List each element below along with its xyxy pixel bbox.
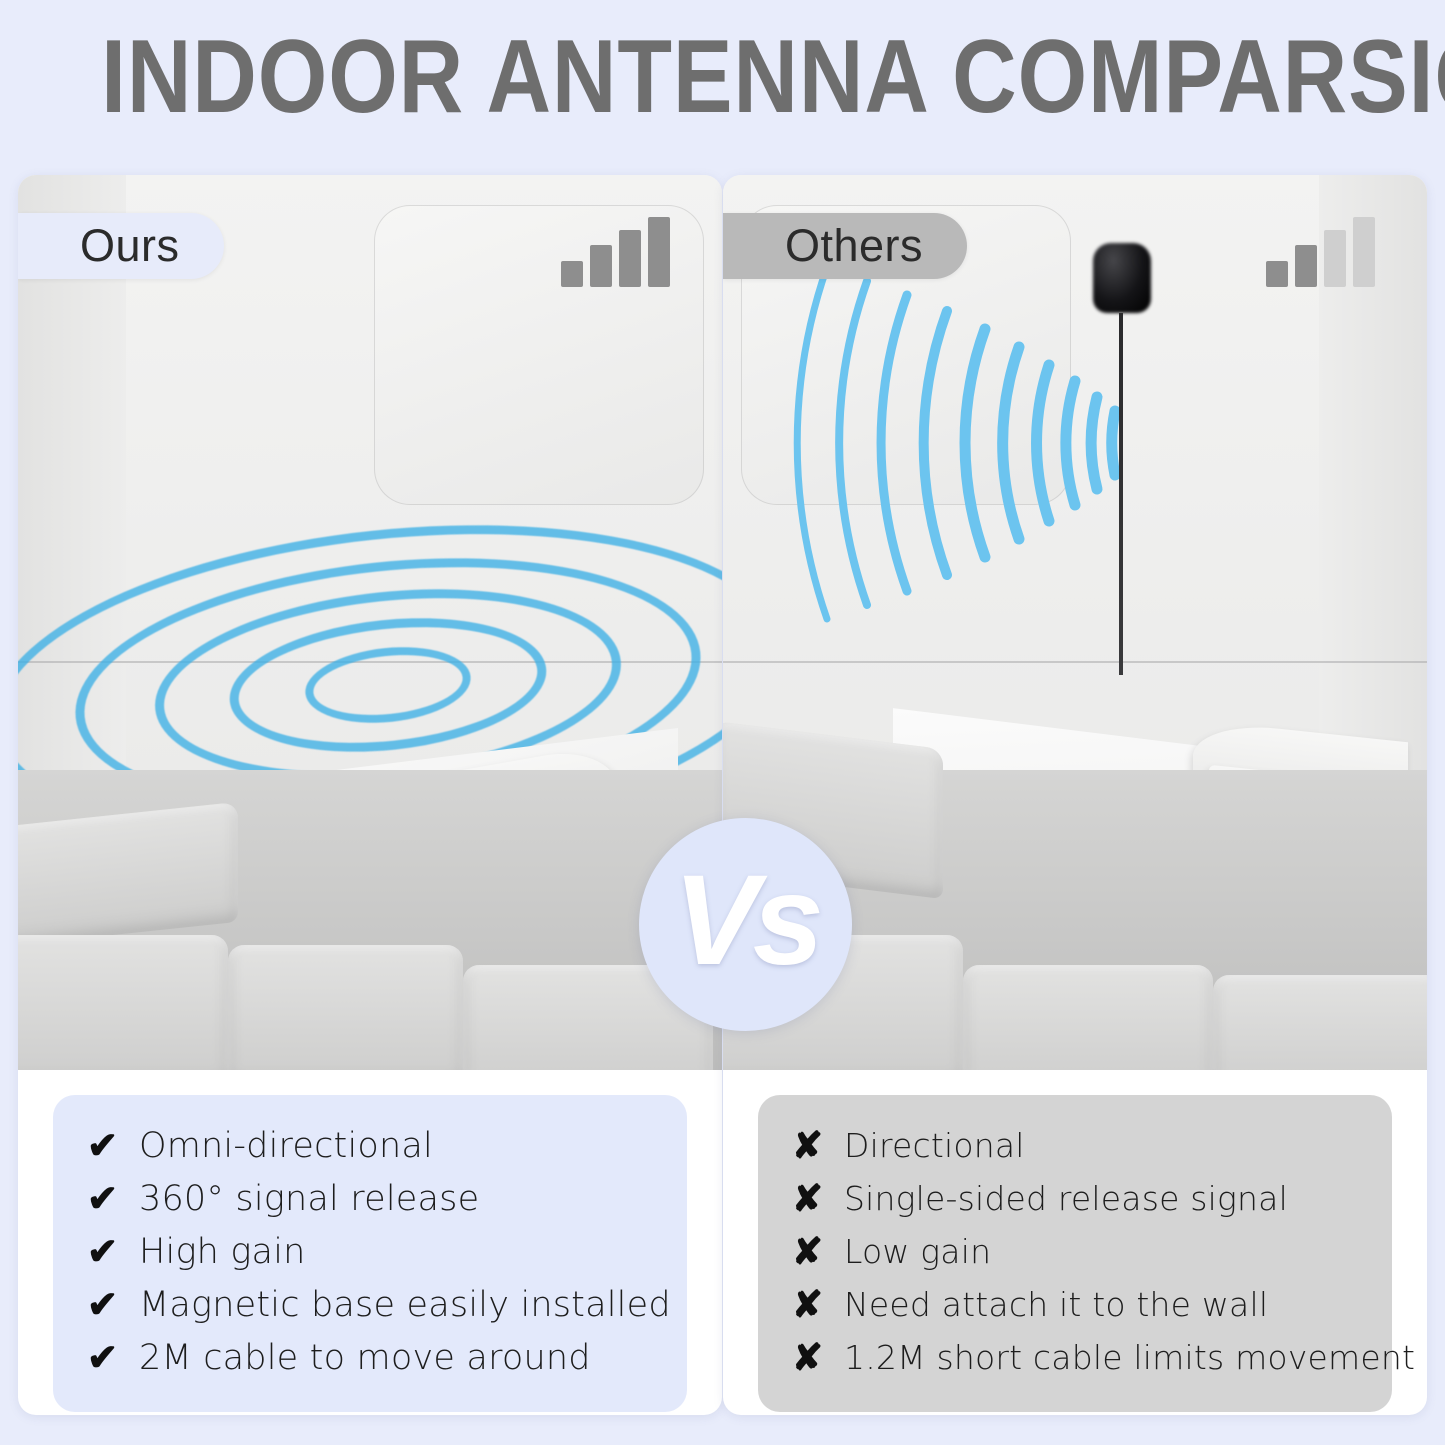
check-icon: ✔ <box>87 1286 139 1323</box>
signal-bar-3 <box>1324 230 1346 287</box>
feature-label: High gain <box>139 1232 306 1272</box>
wall-seam <box>723 661 1427 663</box>
sofa-cushion <box>228 945 463 1070</box>
check-icon: ✔ <box>87 1233 139 1270</box>
vs-badge: Vs <box>639 818 852 1031</box>
wall-antenna-head <box>1093 243 1151 313</box>
cross-icon: ✘ <box>792 1127 844 1164</box>
comparison-card-ours: HiBOOST Ours ✔ Omni-directional <box>18 175 722 1415</box>
feature-label: Magnetic base easily installed <box>139 1285 671 1325</box>
signal-bar-2 <box>1295 245 1317 287</box>
feature-item: ✘ 1.2M short cable limits movement <box>792 1333 1372 1382</box>
check-icon: ✔ <box>87 1127 139 1164</box>
feature-item: ✔ 2M cable to move around <box>87 1333 667 1382</box>
cross-icon: ✘ <box>792 1286 844 1323</box>
sofa-cushion <box>963 965 1213 1070</box>
page-title: INDOOR ANTENNA COMPARSION <box>101 22 1344 132</box>
sofa-cushion <box>18 935 228 1070</box>
wall-antenna-cable <box>1119 313 1123 675</box>
badge-ours: Ours <box>18 213 224 279</box>
signal-bar-4 <box>1353 217 1375 287</box>
feature-label: Low gain <box>844 1232 991 1271</box>
sofa-cushion <box>1213 975 1427 1070</box>
feature-label: Single-sided release signal <box>844 1179 1288 1218</box>
vs-label: Vs <box>673 857 818 985</box>
badge-others-label: Others <box>785 220 923 271</box>
feature-label: Need attach it to the wall <box>844 1285 1268 1324</box>
check-icon: ✔ <box>87 1180 139 1217</box>
cross-icon: ✘ <box>792 1180 844 1217</box>
feature-item: ✘ Need attach it to the wall <box>792 1280 1372 1329</box>
feature-item: ✔ Omni-directional <box>87 1121 667 1170</box>
ours-photo: HiBOOST Ours <box>18 175 722 1070</box>
badge-ours-label: Ours <box>80 220 180 271</box>
feature-list-others: ✘ Directional ✘ Single-sided release sig… <box>758 1095 1392 1412</box>
feature-item: ✘ Directional <box>792 1121 1372 1170</box>
signal-bar-1 <box>1266 261 1288 287</box>
feature-item: ✘ Low gain <box>792 1227 1372 1276</box>
feature-item: ✘ Single-sided release signal <box>792 1174 1372 1223</box>
badge-others: Others <box>723 213 967 279</box>
feature-item: ✔ High gain <box>87 1227 667 1276</box>
comparison-card-others: Others ✘ Directional ✘ Single-sided rele… <box>723 175 1427 1415</box>
signal-bar-4 <box>648 217 670 287</box>
feature-label: 360° signal release <box>139 1179 479 1219</box>
feature-item: ✔ 360° signal release <box>87 1174 667 1223</box>
cross-icon: ✘ <box>792 1233 844 1270</box>
check-icon: ✔ <box>87 1339 139 1376</box>
signal-bars-icon-others <box>1266 217 1375 287</box>
signal-bar-1 <box>561 261 583 287</box>
feature-label: 2M cable to move around <box>139 1338 591 1378</box>
feature-label: Omni-directional <box>139 1126 433 1166</box>
feature-label: 1.2M short cable limits movement <box>844 1338 1415 1377</box>
signal-bars-icon-ours <box>561 217 670 287</box>
signal-bar-2 <box>590 245 612 287</box>
cross-icon: ✘ <box>792 1339 844 1376</box>
feature-list-ours: ✔ Omni-directional ✔ 360° signal release… <box>53 1095 687 1412</box>
feature-label: Directional <box>844 1126 1025 1165</box>
signal-bar-3 <box>619 230 641 287</box>
feature-item: ✔ Magnetic base easily installed <box>87 1280 667 1329</box>
